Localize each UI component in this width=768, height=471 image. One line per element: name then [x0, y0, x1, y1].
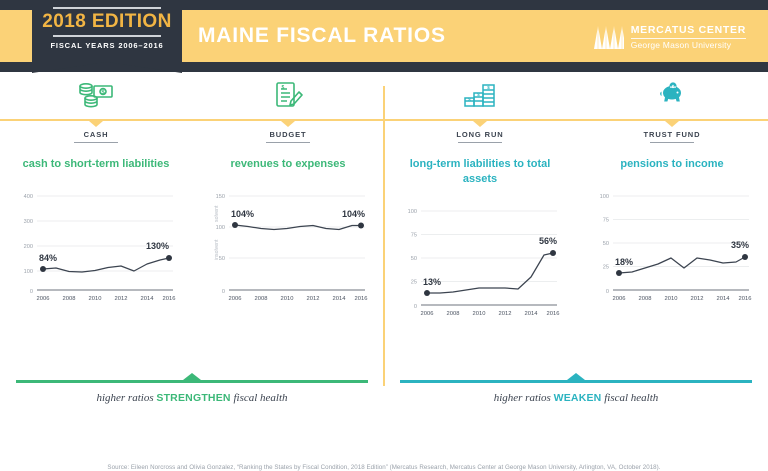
svg-text:0: 0 [30, 289, 33, 295]
x-tick-labels: 2006 2008 2010 2012 2014 2016 [229, 296, 368, 302]
footer-strengthen: higher ratios STRENGTHEN fiscal health [0, 380, 384, 404]
strengthen-caption: higher ratios STRENGTHEN fiscal health [0, 392, 384, 404]
svg-text:2008: 2008 [63, 296, 76, 302]
category-label: TRUST FUND [582, 130, 762, 139]
ratio-title: cash to short-term liabilities [6, 157, 186, 172]
svg-text:400: 400 [24, 194, 33, 200]
gold-arrow [473, 121, 487, 127]
start-value-label: 84% [39, 253, 57, 263]
ratio-title: pensions to income [582, 157, 762, 172]
start-value-label: 18% [615, 257, 633, 267]
y-tick-labels: 100 75 50 25 0 [600, 194, 609, 295]
end-value-label: 35% [731, 240, 749, 250]
up-arrow-icon [183, 373, 201, 380]
panel-grid: $ CASH cash to short-term liabilities [0, 72, 768, 321]
data-point-start [616, 270, 622, 276]
x-tick-labels: 2006 2008 2010 2012 2014 2016 [37, 296, 176, 302]
svg-text:2016: 2016 [355, 296, 368, 302]
end-value-label: 130% [146, 241, 169, 251]
svg-text:0: 0 [414, 304, 417, 310]
caption-emphasis: STRENGTHEN [156, 392, 230, 404]
long-run-stacks-icon: $ $ $ [390, 72, 570, 112]
svg-text:0: 0 [222, 289, 225, 295]
svg-text:100: 100 [600, 194, 609, 200]
y-tick-labels: 100 75 50 25 0 [408, 209, 417, 310]
footer-bars: higher ratios STRENGTHEN fiscal health h… [0, 380, 768, 404]
svg-text:$: $ [282, 85, 285, 91]
chart-long-run: 100 75 50 25 0 13% 56% [397, 203, 563, 321]
svg-text:75: 75 [603, 217, 609, 223]
x-tick-labels: 2006 2008 2010 2012 2014 2016 [613, 296, 752, 302]
panel-trust-fund: $ TRUST FUND pensions to income [576, 72, 768, 321]
y-tick-labels: 400 300 200 100 0 [24, 194, 33, 295]
svg-text:2014: 2014 [141, 296, 155, 302]
svg-text:2012: 2012 [307, 296, 320, 302]
gridlines [37, 196, 173, 271]
category-label: BUDGET [198, 130, 378, 139]
caption-after: fiscal health [231, 392, 288, 404]
svg-text:0: 0 [606, 289, 609, 295]
body-area: $ CASH cash to short-term liabilities [0, 72, 768, 432]
chart-cash: 400 300 200 100 0 84% 130% [13, 188, 179, 306]
data-point-start [424, 290, 430, 296]
svg-text:2006: 2006 [421, 311, 434, 317]
caption-emphasis: WEAKEN [554, 392, 602, 404]
gold-arrow [665, 121, 679, 127]
logo-divider [631, 38, 746, 39]
svg-text:2006: 2006 [229, 296, 242, 302]
source-citation: Source: Eileen Norcross and Olivia Gonza… [0, 464, 768, 471]
gold-arrow [89, 121, 103, 127]
strengthen-bar [16, 380, 368, 383]
chart-trust-fund: 100 75 50 25 0 18% 35% [589, 188, 755, 306]
svg-text:2012: 2012 [499, 311, 512, 317]
cash-money-icon: $ [6, 72, 186, 112]
category-underline [74, 142, 118, 143]
caption-before: higher ratios [494, 392, 554, 404]
data-point-start [232, 222, 238, 228]
ratio-title: long-term liabilities to total assets [390, 157, 570, 187]
budget-document-icon: $ [198, 72, 378, 112]
svg-text:25: 25 [411, 279, 417, 285]
badge-title: 2018 EDITION [32, 9, 182, 35]
series-line [43, 258, 169, 272]
up-arrow-icon [567, 373, 585, 380]
svg-text:2014: 2014 [717, 296, 731, 302]
svg-text:300: 300 [24, 219, 33, 225]
weaken-caption: higher ratios WEAKEN fiscal health [384, 392, 768, 404]
svg-text:2014: 2014 [333, 296, 347, 302]
svg-text:2006: 2006 [613, 296, 626, 302]
piggy-bank-icon: $ [582, 72, 762, 112]
badge-subtitle: FISCAL YEARS 2006–2016 [32, 37, 182, 50]
svg-text:100: 100 [24, 269, 33, 275]
edition-badge: 2018 EDITION FISCAL YEARS 2006–2016 [32, 0, 182, 62]
panel-cash: $ CASH cash to short-term liabilities [0, 72, 192, 321]
svg-text:2016: 2016 [547, 311, 560, 317]
caption-after: fiscal health [601, 392, 658, 404]
data-point-end [550, 250, 556, 256]
svg-text:150: 150 [216, 194, 225, 200]
gridlines [613, 196, 749, 267]
svg-text:2006: 2006 [37, 296, 50, 302]
svg-text:50: 50 [411, 256, 417, 262]
start-value-label: 13% [423, 277, 441, 287]
data-point-end [166, 255, 172, 261]
mercatus-mark-icon [594, 24, 624, 49]
category-underline [650, 142, 694, 143]
svg-text:2008: 2008 [639, 296, 652, 302]
svg-text:2016: 2016 [739, 296, 752, 302]
axis-note-insolvent: insolvent [214, 239, 220, 260]
svg-text:2010: 2010 [473, 311, 486, 317]
mercatus-logo: MERCATUS CENTER George Mason University [594, 24, 746, 50]
start-value-label: 104% [231, 209, 254, 219]
svg-text:25: 25 [603, 264, 609, 270]
left-half: $ CASH cash to short-term liabilities [0, 72, 384, 321]
series-line [427, 253, 553, 293]
svg-text:100: 100 [408, 209, 417, 215]
gold-arrow [281, 121, 295, 127]
weaken-bar [400, 380, 752, 383]
end-value-label: 104% [342, 209, 365, 219]
svg-text:100: 100 [216, 225, 225, 231]
svg-text:2012: 2012 [691, 296, 704, 302]
panel-budget: $ BUDGET revenues to expenses [192, 72, 384, 321]
logo-university: George Mason University [631, 40, 746, 50]
header: 2018 EDITION FISCAL YEARS 2006–2016 MAIN… [0, 0, 768, 72]
chart-budget: 150 100 50 0 solvent insolvent 104% [205, 188, 371, 306]
svg-text:75: 75 [411, 232, 417, 238]
category-underline [458, 142, 502, 143]
logo-name: MERCATUS CENTER [631, 24, 746, 36]
svg-text:2010: 2010 [89, 296, 102, 302]
caption-before: higher ratios [96, 392, 156, 404]
svg-text:200: 200 [24, 244, 33, 250]
category-label: CASH [6, 130, 186, 139]
end-value-label: 56% [539, 236, 557, 246]
svg-text:2010: 2010 [281, 296, 294, 302]
svg-text:2010: 2010 [665, 296, 678, 302]
page-title: MAINE FISCAL RATIOS [198, 24, 446, 48]
svg-text:50: 50 [603, 241, 609, 247]
svg-text:2012: 2012 [115, 296, 128, 302]
ratio-title: revenues to expenses [198, 157, 378, 172]
data-point-start [40, 266, 46, 272]
svg-text:2008: 2008 [447, 311, 460, 317]
category-label: LONG RUN [390, 130, 570, 139]
data-point-end [358, 222, 364, 228]
panel-long-run: $ $ $ LONG RUN long-term liabilities to … [384, 72, 576, 321]
data-point-end [742, 254, 748, 260]
x-tick-labels: 2006 2008 2010 2012 2014 2016 [421, 311, 560, 317]
gridlines [421, 211, 557, 282]
svg-text:2008: 2008 [255, 296, 268, 302]
svg-text:2016: 2016 [163, 296, 176, 302]
infographic-poster: 2018 EDITION FISCAL YEARS 2006–2016 MAIN… [0, 0, 768, 432]
axis-note-solvent: solvent [214, 205, 220, 222]
svg-text:2014: 2014 [525, 311, 539, 317]
category-underline [266, 142, 310, 143]
footer-weaken: higher ratios WEAKEN fiscal health [384, 380, 768, 404]
right-half: $ $ $ LONG RUN long-term liabilities to … [384, 72, 768, 321]
series-line [619, 257, 745, 273]
